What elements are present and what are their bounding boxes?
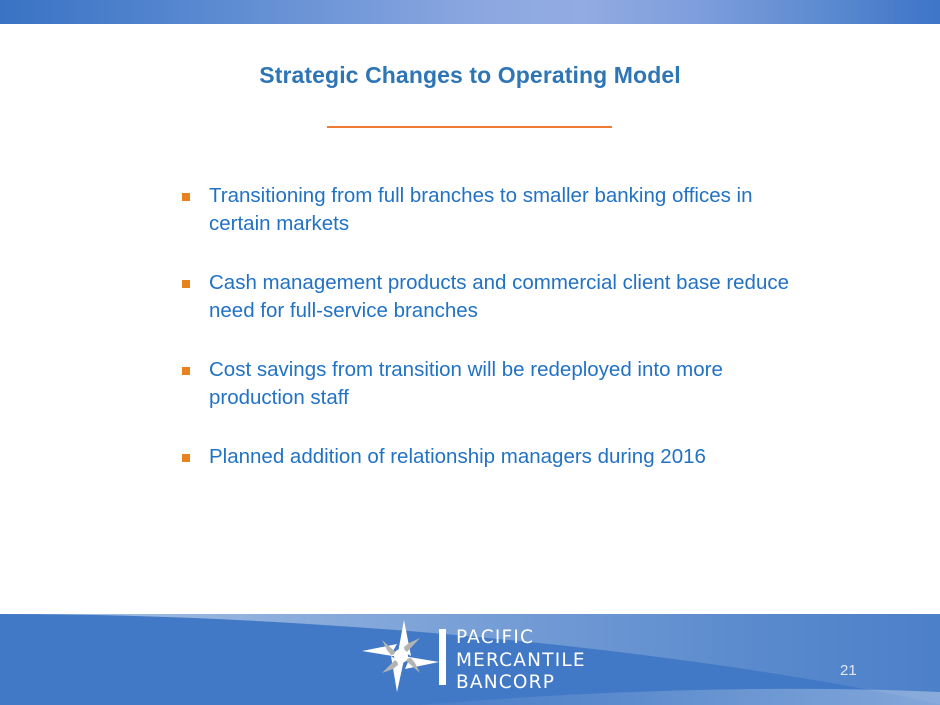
logo-wordmark: PACIFIC MERCANTILE BANCORP [456, 627, 586, 695]
slide-canvas: Strategic Changes to Operating Model Tra… [0, 0, 940, 705]
bullet-list: Transitioning from full branches to smal… [182, 182, 802, 502]
list-item-text: Cash management products and commercial … [209, 269, 802, 325]
logo-wordmark-line-3: BANCORP [456, 672, 586, 695]
title-underline-rule [327, 126, 612, 128]
logo-divider-bar [439, 629, 446, 685]
bullet-square-icon [182, 280, 190, 288]
list-item: Cost savings from transition will be red… [182, 356, 802, 412]
list-item: Transitioning from full branches to smal… [182, 182, 802, 238]
pinwheel-compass-icon [360, 618, 442, 694]
page-title: Strategic Changes to Operating Model [0, 62, 940, 89]
list-item-text: Planned addition of relationship manager… [209, 443, 802, 471]
logo-wordmark-line-1: PACIFIC [456, 627, 586, 650]
top-banner [0, 0, 940, 24]
list-item: Cash management products and commercial … [182, 269, 802, 325]
bullet-square-icon [182, 454, 190, 462]
list-item: Planned addition of relationship manager… [182, 443, 802, 471]
bullet-square-icon [182, 367, 190, 375]
list-item-text: Cost savings from transition will be red… [209, 356, 802, 412]
list-item-text: Transitioning from full branches to smal… [209, 182, 802, 238]
page-number: 21 [840, 662, 876, 679]
company-logo: PACIFIC MERCANTILE BANCORP [360, 618, 600, 694]
logo-wordmark-line-2: MERCANTILE [456, 650, 586, 673]
bullet-square-icon [182, 193, 190, 201]
